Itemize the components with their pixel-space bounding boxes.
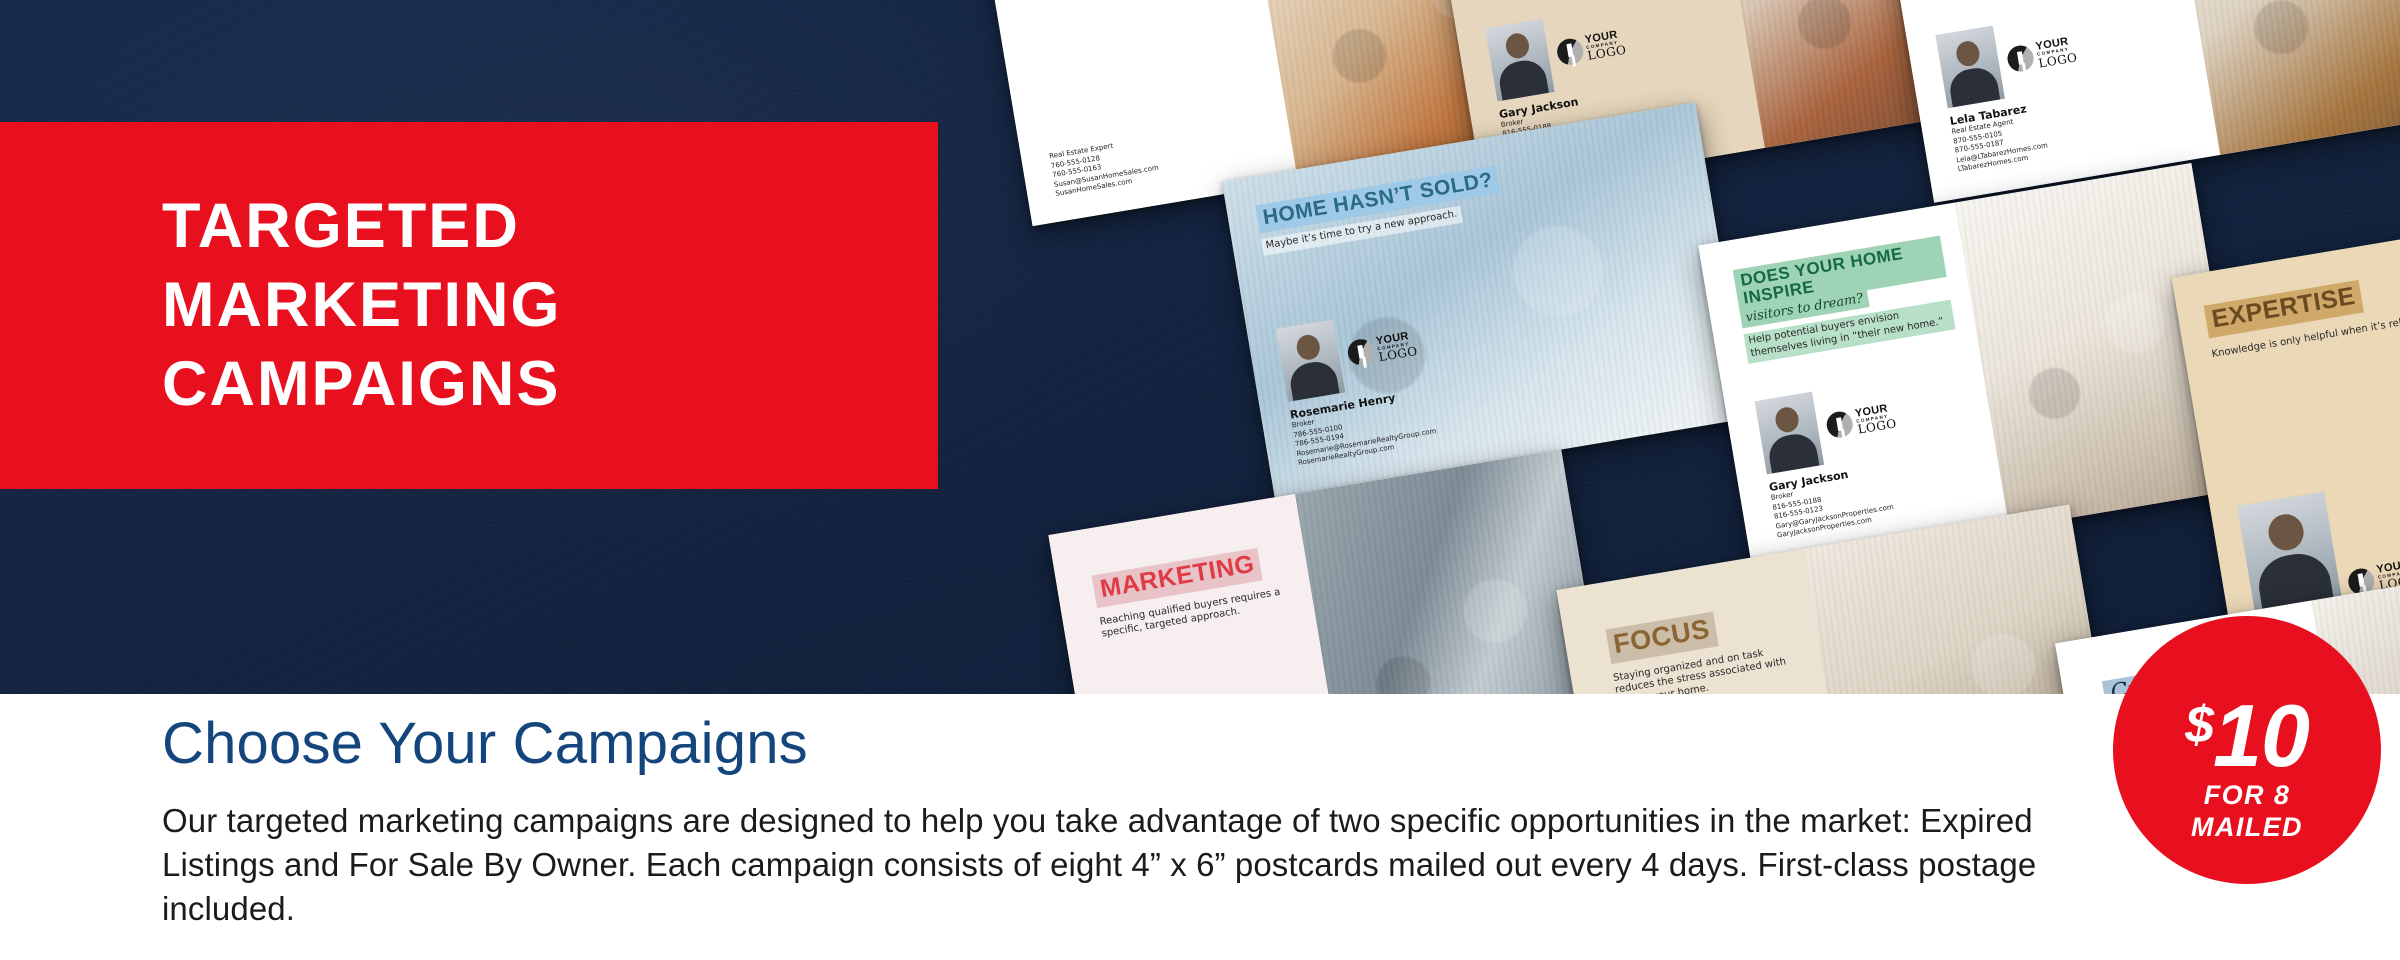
- postcard-does-your-home-inspire[interactable]: DOES YOUR HOME INSPIRE visitors to dream…: [1698, 163, 2246, 571]
- logo-mark-icon: [2006, 44, 2036, 74]
- section-body-paragraph: Our targeted marketing campaigns are des…: [162, 799, 2082, 932]
- hero-banner-text: TARGETED MARKETING CAMPAIGNS: [0, 195, 561, 416]
- logo-mark-icon: [1555, 36, 1585, 66]
- agent-headshot: [1755, 392, 1824, 475]
- hero-banner-line-2: MARKETING: [162, 274, 561, 337]
- price-value: 10: [2213, 700, 2309, 772]
- logo-mark-icon: [1346, 338, 1376, 368]
- price-badge-line-2: MAILED: [2191, 812, 2303, 843]
- price-badge-line-1: FOR 8: [2204, 780, 2291, 811]
- logo-mark-icon: [1825, 410, 1855, 440]
- postcard-headline: FOCUS: [1605, 611, 1718, 663]
- agent-headshot: [1485, 19, 1554, 102]
- agent-headshot: [2237, 492, 2342, 613]
- section-body: Our targeted marketing campaigns are des…: [162, 799, 2082, 932]
- price-amount: $ 10: [2185, 700, 2309, 772]
- hero-banner-line-1: TARGETED: [162, 195, 561, 258]
- content-section: Choose Your Campaigns Our targeted marke…: [0, 694, 2400, 960]
- company-logo: YOUR COMPANY LOGO: [1346, 330, 1419, 369]
- hero-red-banner: TARGETED MARKETING CAMPAIGNS: [0, 122, 938, 489]
- company-logo: YOUR COMPANY LOGO: [1825, 402, 1898, 441]
- company-logo: YOUR COMPANY LOGO: [2005, 36, 2078, 75]
- hero-banner: Real Estate Expert 760-555-0128 760-555-…: [0, 0, 2400, 694]
- hero-banner-line-3: CAMPAIGNS: [162, 353, 561, 416]
- price-badge[interactable]: $ 10 FOR 8 MAILED: [2113, 616, 2381, 884]
- agent-headshot: [1936, 26, 2005, 109]
- page-root: Real Estate Expert 760-555-0128 760-555-…: [0, 0, 2400, 960]
- section-title: Choose Your Campaigns: [162, 710, 808, 777]
- company-logo: YOUR COMPANY LOGO: [1555, 29, 1628, 68]
- agent-headshot: [1276, 320, 1345, 403]
- price-currency-symbol: $: [2185, 704, 2213, 747]
- postcard-info-panel: DOES YOUR HOME INSPIRE visitors to dream…: [1698, 203, 2009, 571]
